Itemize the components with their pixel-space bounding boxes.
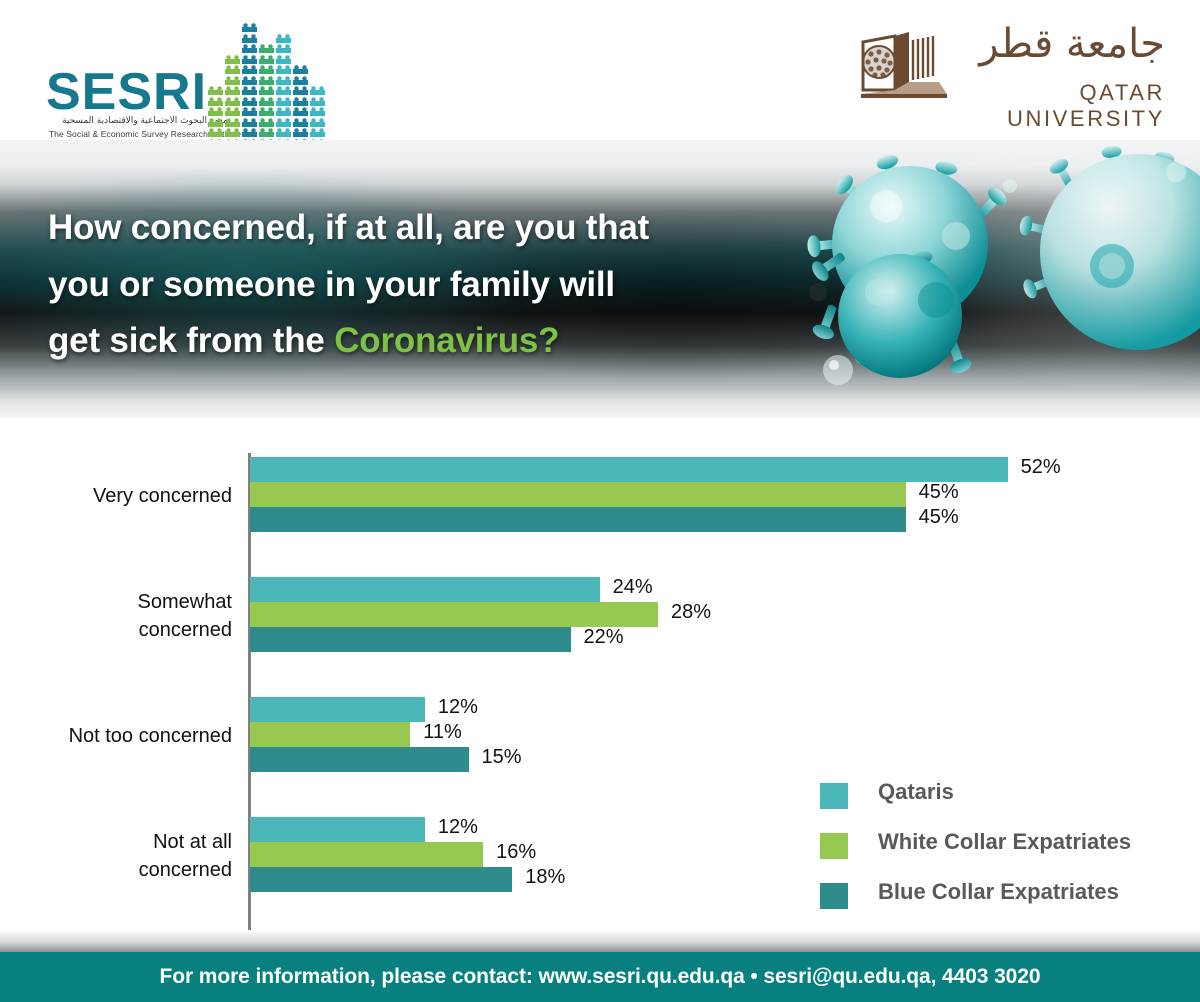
logo-person-glyph	[276, 76, 291, 85]
logo-person-glyph	[259, 128, 274, 137]
logo-person-glyph	[293, 76, 308, 85]
chart-bar-value-label: 16%	[496, 841, 536, 864]
logo-person-glyph	[310, 107, 325, 116]
legend-item[interactable]: Qataris	[820, 775, 1170, 825]
logo-person-glyph	[208, 97, 223, 106]
hero-banner: How concerned, if at all, are you that y…	[0, 140, 1200, 418]
chart-bar	[250, 482, 906, 507]
logo-person-glyph	[242, 34, 257, 43]
headline-line-1: How concerned, if at all, are you that	[48, 208, 649, 247]
logo-person-glyph	[276, 107, 291, 116]
chart-bar	[250, 747, 469, 772]
chart-bar-value-label: 45%	[919, 506, 959, 529]
chart-category-label: Very concerned	[0, 482, 232, 510]
logo-person-glyph	[225, 65, 240, 74]
logo-person-glyph	[310, 97, 325, 106]
page-footer: For more information, please contact: ww…	[0, 952, 1200, 1002]
headline-line-3: get sick from the	[48, 321, 334, 360]
logo-person-glyph	[242, 118, 257, 127]
logo-person-glyph	[242, 65, 257, 74]
logo-person-glyph	[242, 55, 257, 64]
legend-item-label: Blue Collar Expatriates	[878, 879, 1119, 905]
logo-person-glyph	[293, 86, 308, 95]
logo-people-column	[259, 44, 274, 149]
logo-person-glyph	[276, 97, 291, 106]
logo-person-glyph	[225, 76, 240, 85]
chart-bar-value-label: 18%	[525, 866, 565, 889]
logo-person-glyph	[293, 97, 308, 106]
page-header: SESRI معهد البحوث الاجتماعية والاقتصادية…	[0, 0, 1200, 140]
sesri-logo: SESRI معهد البحوث الاجتماعية والاقتصادية…	[40, 20, 330, 130]
logo-person-glyph	[208, 86, 223, 95]
logo-person-glyph	[242, 23, 257, 32]
logo-person-glyph	[276, 34, 291, 43]
footer-fade-divider	[0, 930, 1200, 952]
chart-legend: QatarisWhite Collar ExpatriatesBlue Coll…	[820, 775, 1170, 925]
chart-bar-value-label: 28%	[671, 601, 711, 624]
logo-people-column	[293, 65, 308, 149]
logo-person-glyph	[293, 118, 308, 127]
people-bar-logo-icon	[208, 34, 328, 149]
chart-bar-value-label: 22%	[584, 626, 624, 649]
legend-color-swatch	[820, 833, 848, 859]
logo-person-glyph	[276, 44, 291, 53]
chart-bar-value-label: 15%	[482, 746, 522, 769]
logo-person-glyph	[225, 128, 240, 137]
logo-person-glyph	[208, 118, 223, 127]
logo-person-glyph	[242, 76, 257, 85]
chart-bar-value-label: 11%	[423, 721, 462, 744]
chart-bar	[250, 817, 425, 842]
logo-person-glyph	[242, 86, 257, 95]
logo-people-column	[276, 34, 291, 150]
legend-item[interactable]: Blue Collar Expatriates	[820, 875, 1170, 925]
logo-person-glyph	[259, 44, 274, 53]
logo-person-glyph	[310, 86, 325, 95]
logo-person-glyph	[225, 97, 240, 106]
legend-color-swatch	[820, 783, 848, 809]
logo-person-glyph	[225, 55, 240, 64]
logo-person-glyph	[293, 65, 308, 74]
logo-person-glyph	[293, 128, 308, 137]
chart-category-label: Not at all concerned	[0, 828, 232, 885]
logo-person-glyph	[259, 65, 274, 74]
logo-person-glyph	[276, 118, 291, 127]
logo-person-glyph	[225, 118, 240, 127]
logo-person-glyph	[310, 118, 325, 127]
logo-person-glyph	[259, 76, 274, 85]
legend-item-label: Qataris	[878, 779, 954, 805]
banner-headline: How concerned, if at all, are you that y…	[48, 200, 838, 370]
logo-person-glyph	[259, 86, 274, 95]
qatar-university-arabic-name: جامعة قطر	[965, 24, 1165, 64]
chart-bar	[250, 697, 425, 722]
chart-bar-value-label: 12%	[438, 816, 478, 839]
headline-highlight: Coronavirus?	[334, 321, 559, 360]
qatar-university-logo: جامعة قطر QATAR UNIVERSITY	[845, 22, 1165, 117]
headline-line-2: you or someone in your family will	[48, 265, 615, 304]
logo-person-glyph	[259, 118, 274, 127]
logo-person-glyph	[276, 86, 291, 95]
chart-bar	[250, 577, 600, 602]
chart-bar-value-label: 12%	[438, 696, 478, 719]
logo-people-column	[225, 55, 240, 150]
chart-bar	[250, 867, 512, 892]
chart-bar-value-label: 24%	[613, 576, 653, 599]
chart-bar-value-label: 52%	[1021, 456, 1061, 479]
logo-person-glyph	[276, 55, 291, 64]
logo-person-glyph	[276, 65, 291, 74]
chart-bar-value-label: 45%	[919, 481, 959, 504]
qatar-university-book-icon	[855, 28, 950, 106]
chart-bar	[250, 627, 571, 652]
chart-bar	[250, 842, 483, 867]
logo-person-glyph	[225, 107, 240, 116]
logo-person-glyph	[208, 107, 223, 116]
chart-category-label: Not too concerned	[0, 722, 232, 750]
logo-person-glyph	[259, 107, 274, 116]
qatar-university-english-name: QATAR UNIVERSITY	[965, 80, 1165, 132]
legend-color-swatch	[820, 883, 848, 909]
logo-person-glyph	[225, 86, 240, 95]
chart-bar	[250, 507, 906, 532]
logo-person-glyph	[242, 128, 257, 137]
logo-person-glyph	[242, 44, 257, 53]
legend-item[interactable]: White Collar Expatriates	[820, 825, 1170, 875]
chart-bar	[250, 457, 1008, 482]
chart-category-label: Somewhat concerned	[0, 588, 232, 645]
legend-item-label: White Collar Expatriates	[878, 829, 1131, 855]
footer-contact-text: For more information, please contact: ww…	[0, 965, 1200, 989]
chart-bar	[250, 722, 410, 747]
logo-people-column	[242, 23, 257, 149]
logo-person-glyph	[276, 128, 291, 137]
logo-person-glyph	[310, 128, 325, 137]
logo-person-glyph	[242, 107, 257, 116]
logo-person-glyph	[208, 128, 223, 137]
logo-person-glyph	[242, 97, 257, 106]
logo-person-glyph	[293, 107, 308, 116]
logo-person-glyph	[259, 55, 274, 64]
logo-person-glyph	[259, 97, 274, 106]
chart-bar	[250, 602, 658, 627]
sesri-wordmark: SESRI	[46, 62, 207, 122]
